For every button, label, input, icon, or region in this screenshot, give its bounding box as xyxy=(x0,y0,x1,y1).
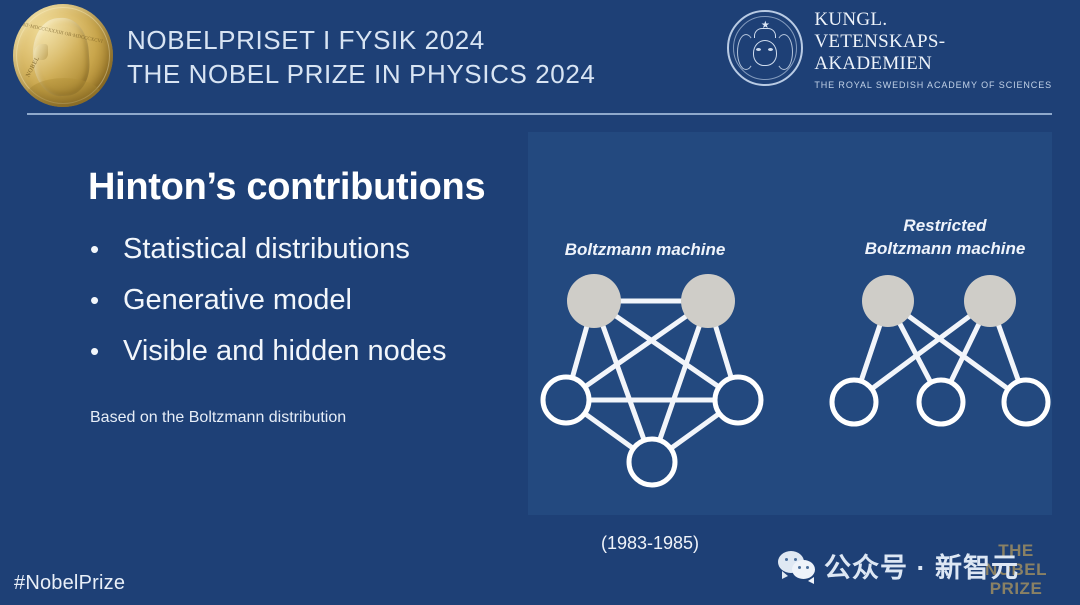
hidden-node xyxy=(681,274,735,328)
bullet-marker-icon: • xyxy=(90,232,123,266)
academy-name-line-1: KUNGL. xyxy=(814,9,1052,31)
wechat-dot xyxy=(785,558,788,561)
bullet-marker-icon: • xyxy=(90,283,123,317)
wechat-icon xyxy=(778,551,818,581)
academy-text-block: KUNGL. VETENSKAPS- AKADEMIEN THE ROYAL S… xyxy=(814,8,1052,90)
visible-node xyxy=(715,377,761,423)
wechat-dot xyxy=(798,566,801,569)
wechat-tail-back xyxy=(782,571,788,579)
wechat-dot xyxy=(794,558,797,561)
bullet-list: • Statistical distributions • Generative… xyxy=(90,232,520,385)
header-title-block: NOBELPRISET I FYSIK 2024 THE NOBEL PRIZE… xyxy=(127,23,595,91)
years-caption: (1983-1985) xyxy=(540,533,760,554)
rbm-caption-line-1: Restricted xyxy=(840,214,1050,237)
rbm-visible-nodes xyxy=(832,380,1048,424)
seal-crown-icon xyxy=(754,28,776,38)
title-swedish: NOBELPRISET I FYSIK 2024 xyxy=(127,23,595,57)
slide: NOBEL NAT·MDCCCXXXIII OB·MDCCCXCVI NOBEL… xyxy=(0,0,1080,605)
rbm-caption-line-2: Boltzmann machine xyxy=(840,237,1050,260)
subnote-text: Based on the Boltzmann distribution xyxy=(90,409,346,427)
watermark-overlay: 公众号 · 新智元 xyxy=(778,546,1019,585)
restricted-boltzmann-machine-graph xyxy=(830,265,1050,445)
wechat-dot xyxy=(806,566,809,569)
list-item: • Visible and hidden nodes xyxy=(90,334,520,368)
rbm-hidden-nodes xyxy=(862,275,1016,327)
list-item: • Statistical distributions xyxy=(90,232,520,266)
hashtag-label: #NobelPrize xyxy=(14,572,125,595)
seal-face-icon xyxy=(753,40,777,66)
visible-node xyxy=(629,439,675,485)
page-title: Hinton’s contributions xyxy=(88,166,485,209)
boltzmann-machine-caption: Boltzmann machine xyxy=(540,238,750,261)
bullet-marker-icon: • xyxy=(90,334,123,368)
header-divider xyxy=(27,113,1052,115)
bullet-label: Statistical distributions xyxy=(123,232,410,266)
academy-name-line-2: VETENSKAPS- xyxy=(814,31,1052,53)
wechat-tail-front xyxy=(808,577,814,584)
visible-node xyxy=(1004,380,1048,424)
slide-header: NOBEL NAT·MDCCCXXXIII OB·MDCCCXCVI NOBEL… xyxy=(0,0,1080,120)
hidden-node xyxy=(567,274,621,328)
nobel-medal-icon: NOBEL NAT·MDCCCXXXIII OB·MDCCCXCVI xyxy=(13,4,113,107)
list-item: • Generative model xyxy=(90,283,520,317)
visible-node xyxy=(543,377,589,423)
visible-node xyxy=(919,380,963,424)
visible-node xyxy=(832,380,876,424)
academy-name-line-3: AKADEMIEN xyxy=(814,53,1052,75)
restricted-boltzmann-machine-caption: Restricted Boltzmann machine xyxy=(840,214,1050,260)
academy-logo: ★ KUNGL. VETENSKAPS- AKADEMIEN THE ROYAL… xyxy=(727,8,1052,104)
bullet-label: Visible and hidden nodes xyxy=(123,334,447,368)
academy-seal-icon: ★ xyxy=(727,10,803,86)
watermark-label: 公众号 · 新智元 xyxy=(824,546,1019,585)
bm-visible-nodes xyxy=(543,377,761,485)
boltzmann-machine-graph xyxy=(528,260,758,490)
hidden-node xyxy=(964,275,1016,327)
title-english: THE NOBEL PRIZE IN PHYSICS 2024 xyxy=(127,57,595,91)
bullet-label: Generative model xyxy=(123,283,352,317)
academy-subtitle: THE ROYAL SWEDISH ACADEMY OF SCIENCES xyxy=(814,80,1052,90)
hidden-node xyxy=(862,275,914,327)
